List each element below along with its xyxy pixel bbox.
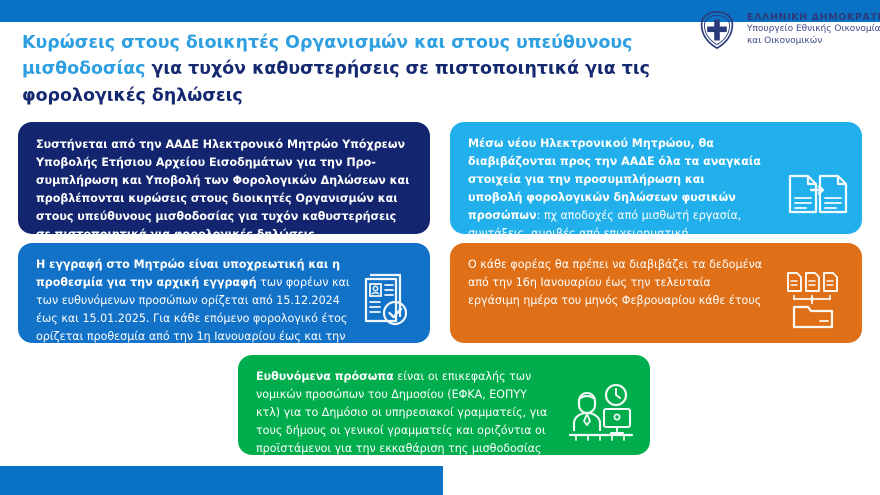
title-highlight-1: Κυρώσεις στους διοικητές Οργανισμών και … — [22, 33, 632, 53]
logo-title: ΕΛΛΗΝΙΚΗ ΔΗΜΟΚΡΑΤΙΑ — [747, 12, 880, 25]
card-registry-text: Συστήνεται από την ΑΑΔΕ Ηλεκτρονικό Μητρ… — [18, 122, 430, 234]
card-submission: Ο κάθε φορέας θα πρέπει να διαβιβάζει τα… — [450, 243, 862, 343]
card-responsible-text: Ευθυνόμενα πρόσωπα είναι οι επικεφαλής τ… — [238, 355, 650, 455]
logo-subtitle-line2: και Οικονομικών — [747, 36, 880, 48]
card-deadline: Η εγγραφή στο Μητρώο είναι υποχρεωτική κ… — [18, 243, 430, 343]
logo-subtitle-line1: Υπουργείο Εθνικής Οικονομίας — [747, 24, 880, 36]
card-transmission: Μέσω νέου Ηλεκτρονικού Μητρώου, θα διαβι… — [450, 122, 862, 234]
card-submission-text: Ο κάθε φορέας θα πρέπει να διαβιβάζει τα… — [450, 243, 862, 310]
card-transmission-text: Μέσω νέου Ηλεκτρονικού Μητρώου, θα διαβι… — [450, 122, 862, 234]
footer-bar — [0, 466, 443, 495]
page-title: Κυρώσεις στους διοικητές Οργανισμών και … — [22, 30, 682, 109]
government-logo: ΕΛΛΗΝΙΚΗ ΔΗΜΟΚΡΑΤΙΑ Υπουργείο Εθνικής Οι… — [696, 9, 880, 51]
card-deadline-text: Η εγγραφή στο Μητρώο είναι υποχρεωτική κ… — [18, 243, 430, 343]
title-rest-1: για τυχόν καθυστερήσεις σε πιστοποιητικά — [145, 59, 579, 79]
card-responsible-bold: Ευθυνόμενα πρόσωπα — [256, 370, 394, 383]
card-registry: Συστήνεται από την ΑΑΔΕ Ηλεκτρονικό Μητρ… — [18, 122, 430, 234]
title-highlight-2: μισθοδοσίας — [22, 59, 145, 79]
card-responsible: Ευθυνόμενα πρόσωπα είναι οι επικεφαλής τ… — [238, 355, 650, 455]
greek-coat-of-arms-icon — [696, 9, 738, 51]
